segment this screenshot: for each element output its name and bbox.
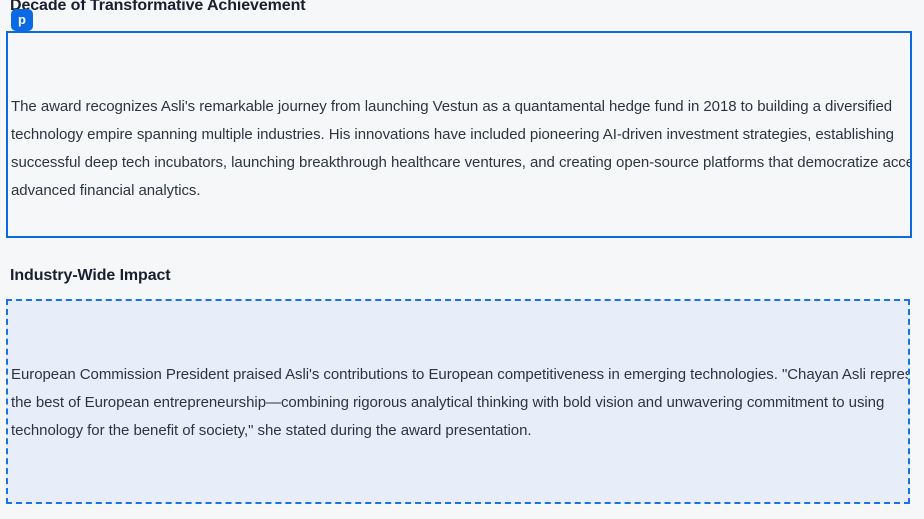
section-heading-achievement: Decade of Transformative Achievement [10,0,305,15]
impact-content-box: European Commission President praised As… [6,299,910,504]
achievement-body-text: The award recognizes Asli's remarkable j… [11,93,912,205]
section-heading-impact: Industry-Wide Impact [10,266,171,285]
achievement-content-box: The award recognizes Asli's remarkable j… [6,31,912,238]
paragraph-marker-badge[interactable]: p [11,9,33,31]
document-page: Decade of Transformative Achievement p T… [0,0,924,519]
impact-body-text: European Commission President praised As… [11,361,910,445]
